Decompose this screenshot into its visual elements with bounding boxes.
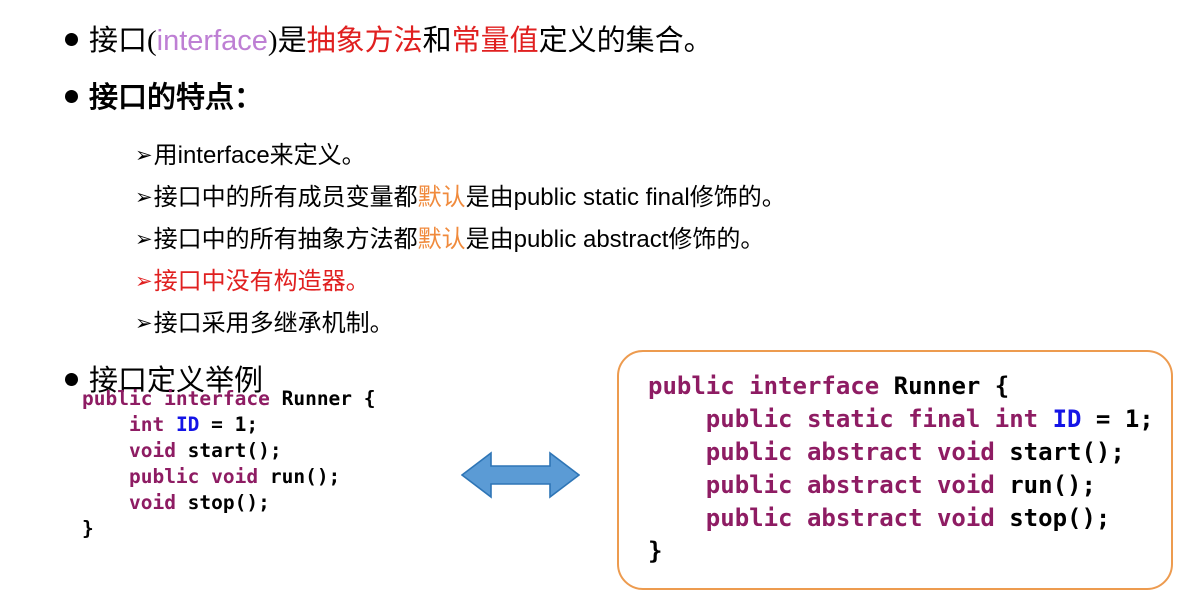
- feature-item-5: ➢ 接口采用多继承机制。: [135, 312, 394, 336]
- definition-text: 接口(interface)是抽象方法和常量值定义的集合。: [89, 27, 713, 56]
- code-token: [82, 465, 129, 488]
- double-headed-arrow-icon: [461, 450, 580, 500]
- code-token: [648, 471, 706, 499]
- feature-item-3: ➢ 接口中的所有抽象方法都默认是由public abstract修饰的。: [135, 228, 764, 252]
- arrow-bullet-icon: ➢: [135, 145, 153, 166]
- features-heading: 接口的特点：: [89, 84, 263, 113]
- feature-item-5-text: 接口采用多继承机制。: [154, 312, 394, 336]
- code-token: ID: [176, 413, 199, 436]
- code-line: void start();: [82, 438, 376, 464]
- code-token: stop();: [188, 491, 270, 514]
- feature-4-seg-a: 接口中没有构造器。: [154, 269, 370, 295]
- code-token: int: [129, 413, 176, 436]
- feature-item-2-text: 接口中的所有成员变量都默认是由public static final修饰的。: [154, 186, 786, 210]
- feature-2-seg-b: 是由: [466, 185, 514, 211]
- code-token: public void: [129, 465, 270, 488]
- feature-item-2: ➢ 接口中的所有成员变量都默认是由public static final修饰的。: [135, 186, 786, 210]
- code-token: public abstract void: [706, 471, 1009, 499]
- code-line: public abstract void run();: [648, 469, 1154, 502]
- feature-3-seg-latin: public abstract: [514, 226, 669, 253]
- code-line: public static final int ID = 1;: [648, 403, 1154, 436]
- feature-3-highlight-default: 默认: [418, 227, 466, 253]
- definition-constants: 常量值: [452, 25, 539, 57]
- code-token: ID: [1053, 405, 1082, 433]
- definition-part-d: 定义的集合。: [539, 25, 713, 57]
- feature-3-seg-c: 修饰的。: [668, 227, 764, 253]
- code-token: [648, 438, 706, 466]
- definition-keyword-interface: interface: [157, 25, 268, 57]
- code-token: [648, 504, 706, 532]
- code-token: start();: [1009, 438, 1125, 466]
- bullet-point-definition: 接口(interface)是抽象方法和常量值定义的集合。: [65, 27, 713, 56]
- feature-5-seg-a: 接口采用多继承机制。: [154, 311, 394, 337]
- code-line: }: [82, 516, 376, 542]
- arrow-bullet-icon: ➢: [135, 313, 153, 334]
- code-token: public abstract void: [706, 438, 1009, 466]
- code-line: int ID = 1;: [82, 412, 376, 438]
- code-line: public abstract void stop();: [648, 502, 1154, 535]
- code-block-after: public interface Runner { public static …: [648, 370, 1154, 568]
- code-token: = 1;: [199, 413, 258, 436]
- code-block-before: public interface Runner { int ID = 1; vo…: [82, 386, 376, 542]
- code-token: [82, 439, 129, 462]
- feature-1-seg-a: 用: [154, 143, 178, 169]
- code-token: }: [82, 517, 94, 540]
- code-token: run();: [1009, 471, 1096, 499]
- code-token: Runner {: [282, 387, 376, 410]
- code-token: public interface: [648, 372, 894, 400]
- feature-3-seg-a: 接口中的所有抽象方法都: [154, 227, 418, 253]
- bullet-dot-icon: [65, 373, 78, 386]
- feature-1-seg-latin: interface: [178, 142, 270, 169]
- code-token: public interface: [82, 387, 282, 410]
- code-token: stop();: [1009, 504, 1110, 532]
- feature-item-4: ➢ 接口中没有构造器。: [135, 270, 370, 294]
- code-token: run();: [270, 465, 340, 488]
- code-token: public abstract void: [706, 504, 1009, 532]
- feature-2-highlight-default: 默认: [418, 185, 466, 211]
- code-line: public interface Runner {: [82, 386, 376, 412]
- definition-part-b: )是: [268, 25, 307, 57]
- definition-abstract-methods: 抽象方法: [307, 25, 423, 57]
- code-token: void: [129, 491, 188, 514]
- code-token: Runner {: [894, 372, 1010, 400]
- code-token: = 1;: [1081, 405, 1153, 433]
- code-line: }: [648, 535, 1154, 568]
- code-line: public interface Runner {: [648, 370, 1154, 403]
- code-token: public static final int: [706, 405, 1053, 433]
- code-token: [82, 491, 129, 514]
- feature-item-3-text: 接口中的所有抽象方法都默认是由public abstract修饰的。: [154, 228, 765, 252]
- feature-1-seg-b: 来定义。: [270, 143, 366, 169]
- feature-item-1-text: 用interface来定义。: [154, 144, 366, 168]
- arrow-bullet-icon: ➢: [135, 187, 153, 208]
- code-line: public abstract void start();: [648, 436, 1154, 469]
- definition-part-c: 和: [423, 25, 452, 57]
- feature-item-4-text: 接口中没有构造器。: [154, 270, 370, 294]
- code-token: void: [129, 439, 188, 462]
- code-line: public void run();: [82, 464, 376, 490]
- feature-2-seg-latin: public static final: [514, 184, 690, 211]
- bullet-point-features-heading: 接口的特点：: [65, 84, 263, 113]
- feature-3-seg-b: 是由: [466, 227, 514, 253]
- code-token: start();: [188, 439, 282, 462]
- code-token: [648, 405, 706, 433]
- arrow-bullet-icon: ➢: [135, 271, 153, 292]
- feature-item-1: ➢ 用interface来定义。: [135, 144, 366, 168]
- definition-part-a: 接口(: [89, 25, 157, 57]
- bullet-dot-icon: [65, 33, 78, 46]
- bullet-dot-icon: [65, 90, 78, 103]
- arrow-bullet-icon: ➢: [135, 229, 153, 250]
- code-token: }: [648, 537, 662, 565]
- feature-2-seg-c: 修饰的。: [690, 185, 786, 211]
- code-line: void stop();: [82, 490, 376, 516]
- code-token: [82, 413, 129, 436]
- feature-2-seg-a: 接口中的所有成员变量都: [154, 185, 418, 211]
